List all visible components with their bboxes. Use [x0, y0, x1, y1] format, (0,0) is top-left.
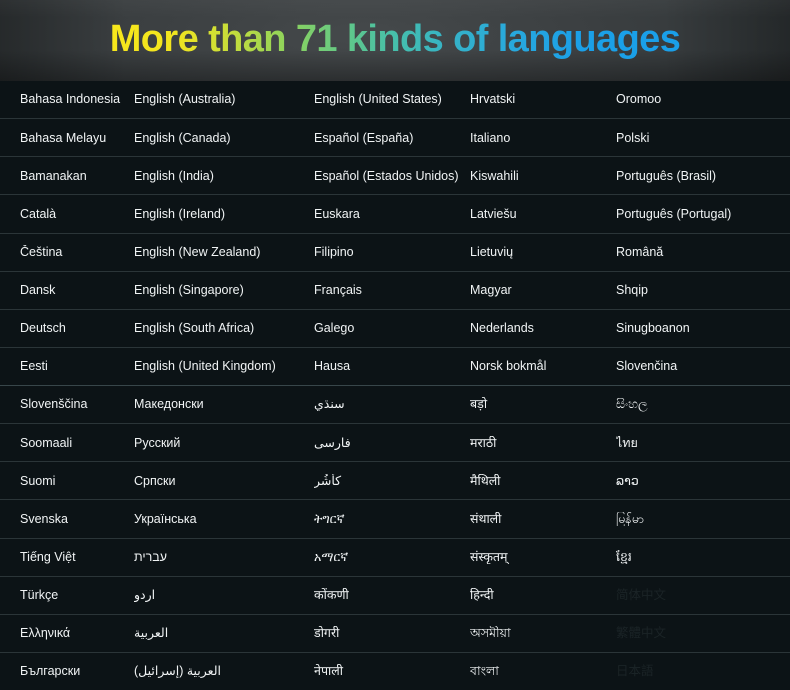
language-cell[interactable]: አማርኛ: [314, 550, 470, 564]
language-cell[interactable]: Nederlands: [470, 321, 616, 335]
language-cell[interactable]: Polski: [616, 131, 790, 145]
language-cell[interactable]: Lietuvių: [470, 245, 616, 259]
table-row[interactable]: DeutschEnglish (South Africa)GalegoNeder…: [0, 309, 790, 347]
language-cell[interactable]: कोंकणी: [314, 588, 470, 602]
language-cell[interactable]: Čeština: [0, 245, 134, 259]
language-cell[interactable]: Eesti: [0, 359, 134, 373]
language-cell[interactable]: မြန်မာ: [616, 512, 790, 526]
table-row[interactable]: Bahasa IndonesiaEnglish (Australia)Engli…: [0, 81, 790, 118]
language-cell[interactable]: Filipino: [314, 245, 470, 259]
language-cell[interactable]: 繁體中文: [616, 626, 790, 640]
language-cell[interactable]: Svenska: [0, 512, 134, 526]
table-row[interactable]: SlovenščinaМакедонскиسنڌيबड़ोසිංහල: [0, 385, 790, 423]
language-cell[interactable]: नेपाली: [314, 664, 470, 678]
banner: More than 71 kinds of languages: [0, 0, 790, 81]
language-cell[interactable]: Ελληνικά: [0, 626, 134, 640]
language-cell[interactable]: Română: [616, 245, 790, 259]
language-cell[interactable]: ไทย: [616, 436, 790, 450]
table-row[interactable]: Türkçeاردوकोंकणीहिन्दी简体中文: [0, 576, 790, 614]
language-cell[interactable]: संस्कृतम्: [470, 550, 616, 564]
language-cell[interactable]: English (Australia): [134, 92, 314, 106]
language-cell[interactable]: डोगरी: [314, 626, 470, 640]
language-cell[interactable]: English (Ireland): [134, 207, 314, 221]
language-cell[interactable]: Русский: [134, 436, 314, 450]
table-row[interactable]: BamanakanEnglish (India)Español (Estados…: [0, 156, 790, 194]
language-cell[interactable]: English (Singapore): [134, 283, 314, 297]
language-cell[interactable]: Soomaali: [0, 436, 134, 450]
language-cell[interactable]: Magyar: [470, 283, 616, 297]
table-row[interactable]: DanskEnglish (Singapore)FrançaisMagyarSh…: [0, 271, 790, 309]
language-cell[interactable]: English (India): [134, 169, 314, 183]
language-cell[interactable]: Latviešu: [470, 207, 616, 221]
language-list-screen: More than 71 kinds of languages Bahasa I…: [0, 0, 790, 690]
language-cell[interactable]: Euskara: [314, 207, 470, 221]
language-cell[interactable]: Українська: [134, 512, 314, 526]
table-row[interactable]: ČeštinaEnglish (New Zealand)FilipinoLiet…: [0, 233, 790, 271]
table-row[interactable]: Tiếng Việtעבריתአማርኛसंस्कृतम्ខ្មែរ: [0, 538, 790, 576]
language-cell[interactable]: Slovenščina: [0, 397, 134, 411]
language-cell[interactable]: 日本語: [616, 664, 790, 678]
language-cell[interactable]: मराठी: [470, 436, 616, 450]
language-cell[interactable]: العربية (إسرائيل): [134, 664, 314, 678]
language-cell[interactable]: Bahasa Indonesia: [0, 92, 134, 106]
language-cell[interactable]: Bahasa Melayu: [0, 131, 134, 145]
language-cell[interactable]: ລາວ: [616, 474, 790, 488]
language-cell[interactable]: Македонски: [134, 397, 314, 411]
language-cell[interactable]: Português (Portugal): [616, 207, 790, 221]
language-cell[interactable]: Español (Estados Unidos): [314, 169, 470, 183]
language-cell[interactable]: Português (Brasil): [616, 169, 790, 183]
language-cell[interactable]: Български: [0, 664, 134, 678]
language-cell[interactable]: Bamanakan: [0, 169, 134, 183]
table-row[interactable]: SoomaaliРусскийفارسیमराठीไทย: [0, 423, 790, 461]
table-row[interactable]: Ελληνικάالعربيةडोगरीঅসমীয়া繁體中文: [0, 614, 790, 652]
language-cell[interactable]: Hausa: [314, 359, 470, 373]
language-cell[interactable]: English (Canada): [134, 131, 314, 145]
language-cell[interactable]: संथाली: [470, 512, 616, 526]
language-cell[interactable]: Sinugboanon: [616, 321, 790, 335]
language-cell[interactable]: Norsk bokmål: [470, 359, 616, 373]
language-cell[interactable]: Deutsch: [0, 321, 134, 335]
language-cell[interactable]: سنڌي: [314, 397, 470, 411]
table-row[interactable]: EestiEnglish (United Kingdom)HausaNorsk …: [0, 347, 790, 385]
language-cell[interactable]: Kiswahili: [470, 169, 616, 183]
language-cell[interactable]: Català: [0, 207, 134, 221]
language-cell[interactable]: Galego: [314, 321, 470, 335]
table-row[interactable]: CatalàEnglish (Ireland)EuskaraLatviešuPo…: [0, 194, 790, 232]
language-cell[interactable]: Türkçe: [0, 588, 134, 602]
language-table: Bahasa IndonesiaEnglish (Australia)Engli…: [0, 81, 790, 690]
language-cell[interactable]: Français: [314, 283, 470, 297]
language-cell[interactable]: සිංහල: [616, 397, 790, 411]
table-row[interactable]: Bahasa MelayuEnglish (Canada)Español (Es…: [0, 118, 790, 156]
language-cell[interactable]: Hrvatski: [470, 92, 616, 106]
language-cell[interactable]: Shqip: [616, 283, 790, 297]
language-cell[interactable]: العربية: [134, 626, 314, 640]
language-cell[interactable]: Oromoo: [616, 92, 790, 106]
language-cell[interactable]: Italiano: [470, 131, 616, 145]
language-cell[interactable]: Slovenčina: [616, 359, 790, 373]
language-cell[interactable]: বাংলা: [470, 664, 616, 678]
language-cell[interactable]: اردو: [134, 588, 314, 602]
language-cell[interactable]: Српски: [134, 474, 314, 488]
language-cell[interactable]: 简体中文: [616, 588, 790, 602]
language-cell[interactable]: हिन्दी: [470, 588, 616, 602]
language-cell[interactable]: Tiếng Việt: [0, 550, 134, 564]
table-row[interactable]: SuomiСрпскиكأشُرमैथिलीລາວ: [0, 461, 790, 499]
language-cell[interactable]: كأشُر: [314, 474, 470, 488]
language-cell[interactable]: English (United States): [314, 92, 470, 106]
language-cell[interactable]: Dansk: [0, 283, 134, 297]
language-cell[interactable]: Español (España): [314, 131, 470, 145]
language-cell[interactable]: ትግርኛ: [314, 512, 470, 526]
language-cell[interactable]: עברית: [134, 550, 314, 564]
language-cell[interactable]: Suomi: [0, 474, 134, 488]
language-cell[interactable]: অসমীয়া: [470, 626, 616, 640]
table-row[interactable]: Българскиالعربية (إسرائيل)नेपालीবাংলা日本語: [0, 652, 790, 690]
language-cell[interactable]: मैथिली: [470, 474, 616, 488]
language-cell[interactable]: English (New Zealand): [134, 245, 314, 259]
language-cell[interactable]: English (South Africa): [134, 321, 314, 335]
language-cell[interactable]: فارسی: [314, 436, 470, 450]
language-cell[interactable]: बड़ो: [470, 397, 616, 411]
language-cell[interactable]: English (United Kingdom): [134, 359, 314, 373]
page-title: More than 71 kinds of languages: [110, 20, 681, 61]
language-cell[interactable]: ខ្មែរ: [616, 550, 790, 564]
table-row[interactable]: SvenskaУкраїнськаትግርኛसंथालीမြန်မာ: [0, 499, 790, 537]
